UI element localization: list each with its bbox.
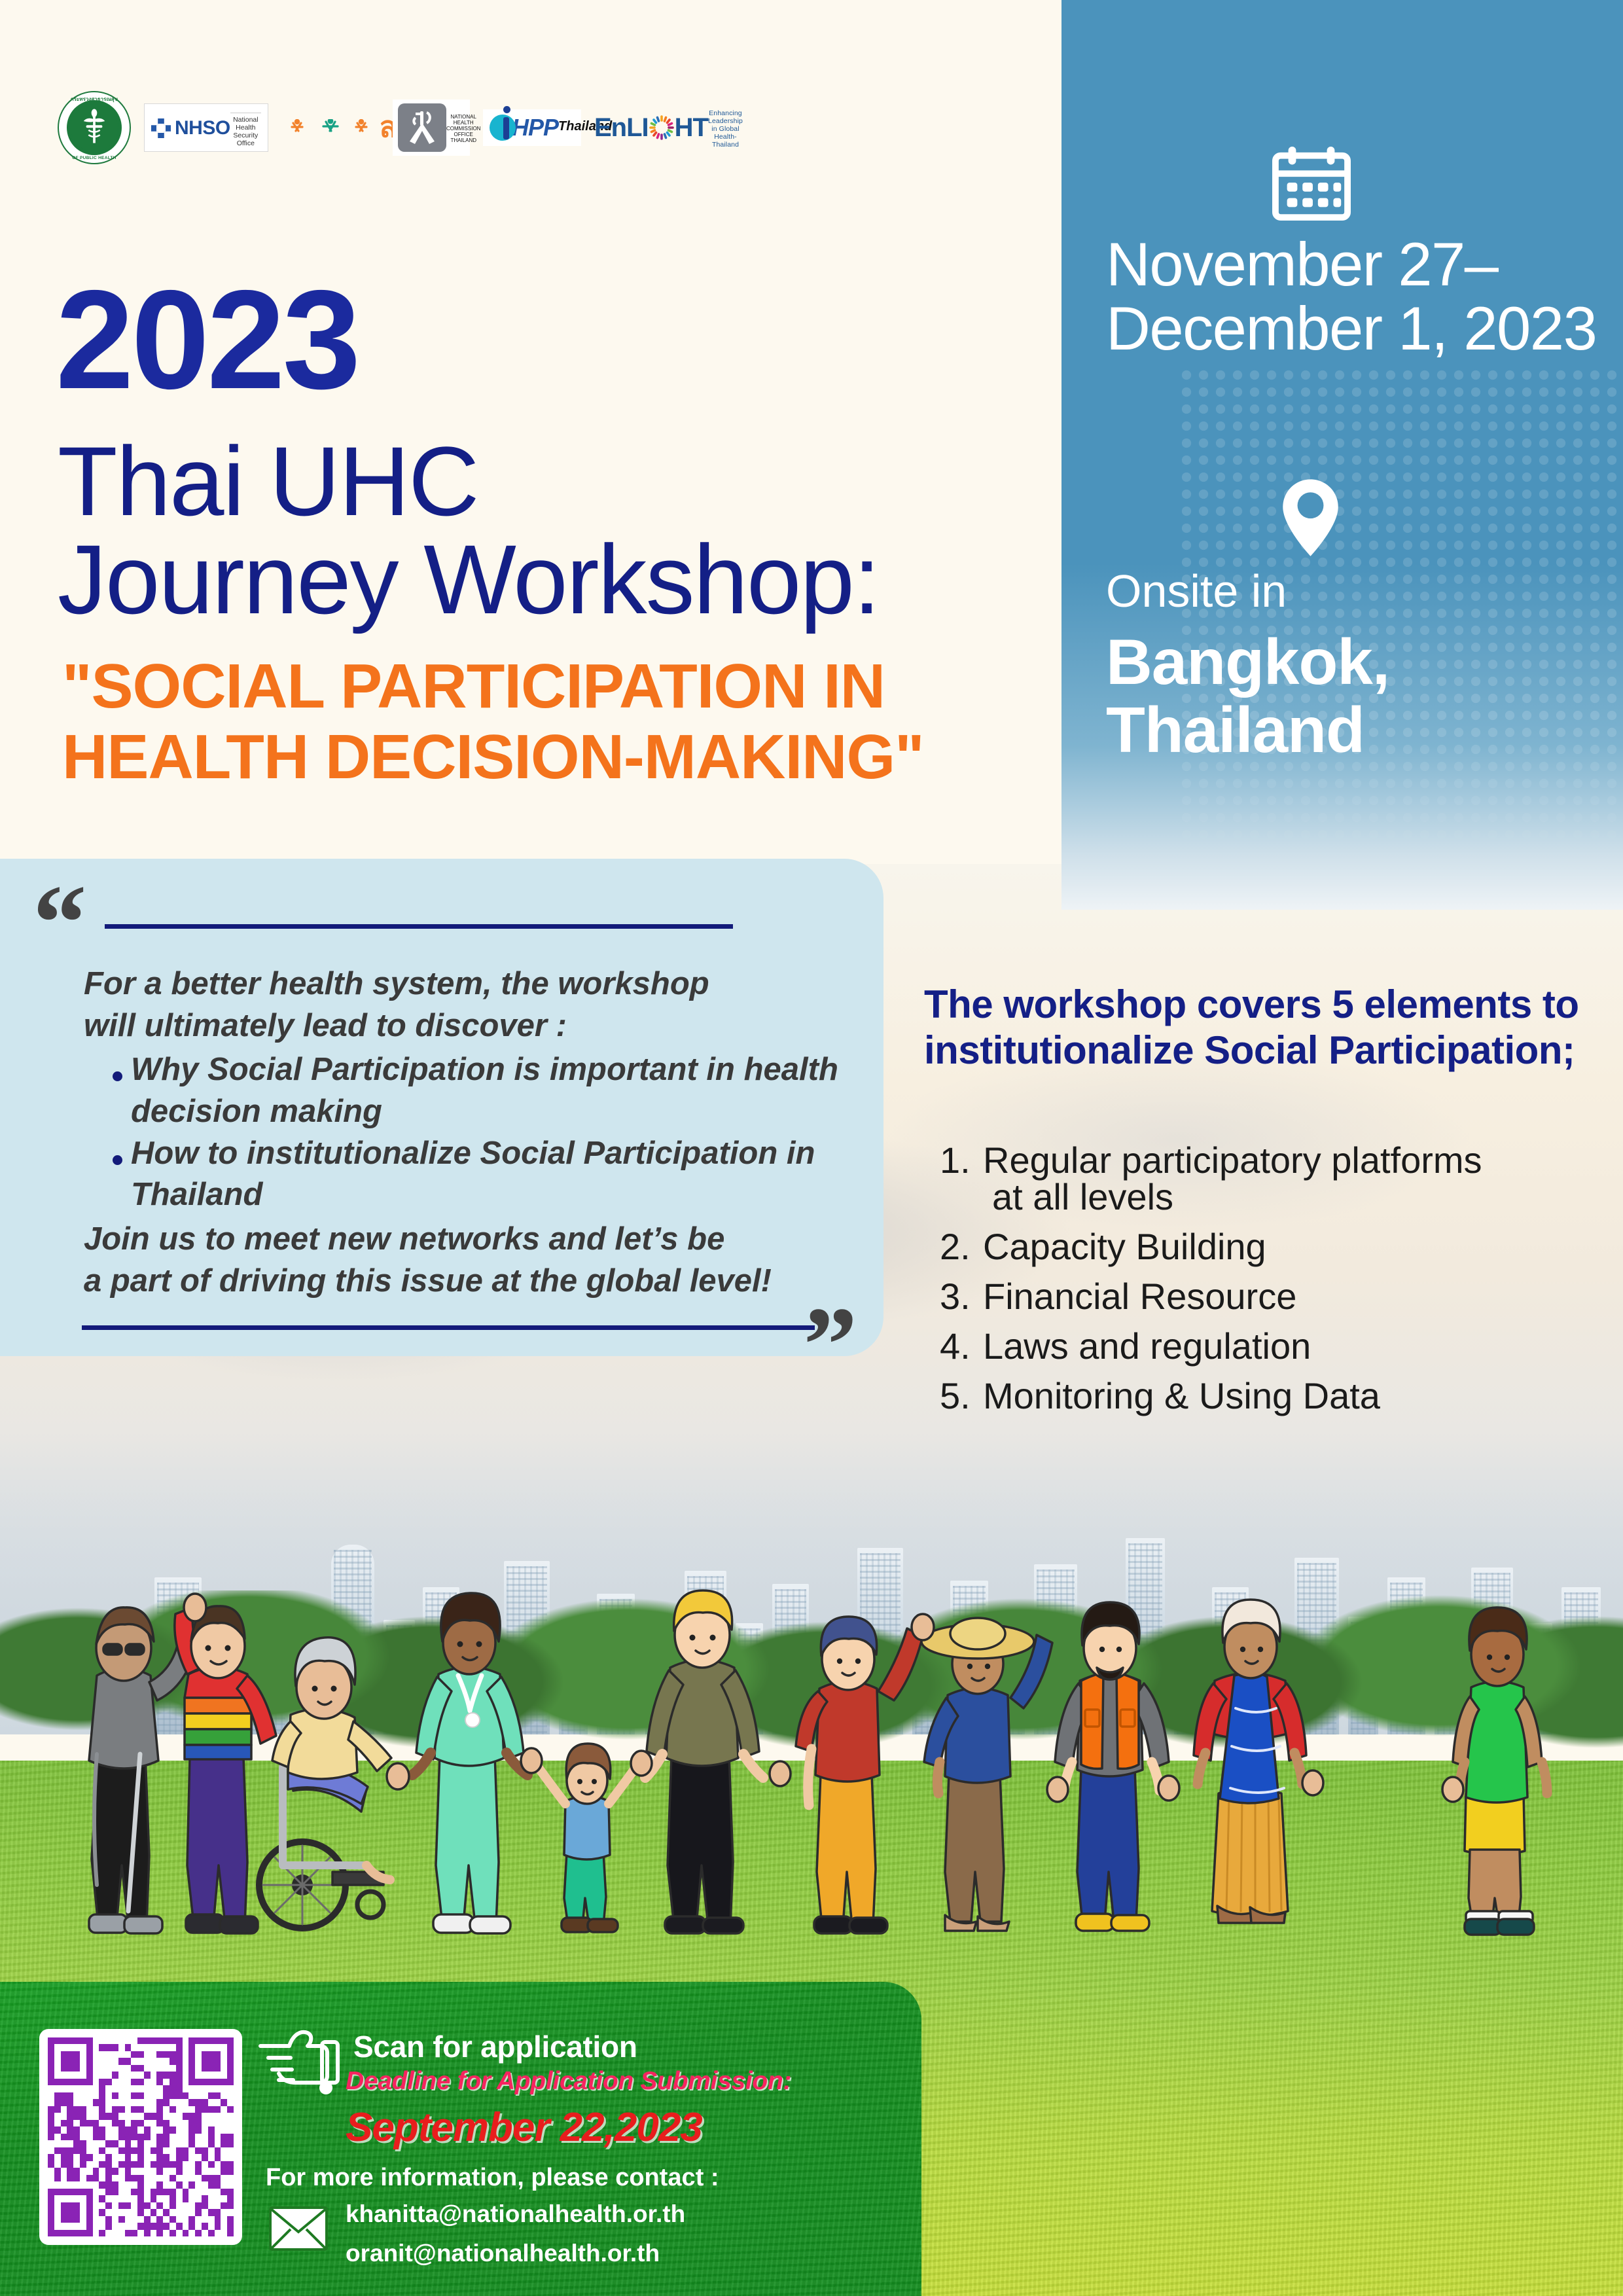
page-title-line3: Journey Workshop: (58, 530, 880, 628)
quote-top-rule (105, 924, 733, 929)
enlight-prefix: EnLI (594, 115, 649, 141)
thaihealth-logo: สสส Thai Health (281, 114, 380, 141)
scan-instruction: Scan for application (353, 2029, 637, 2064)
list-item: Capacity Building (936, 1229, 1623, 1265)
caduceus-icon (77, 107, 111, 148)
ihpp-logo: HPP Thailand (483, 109, 581, 146)
element-3-line1: Financial Resource (983, 1276, 1296, 1317)
deadline-bullet (319, 2081, 332, 2094)
person-safety-vest (1055, 1602, 1169, 1931)
nhso-acronym: NHSO (175, 118, 230, 138)
element-1-line1: Regular participatory platforms (983, 1139, 1482, 1181)
event-mode: Onsite in (1106, 566, 1623, 617)
thaihealth-star-figures (281, 119, 380, 136)
quote-bottom-rule (82, 1325, 815, 1330)
element-4-line1: Laws and regulation (983, 1325, 1311, 1367)
nhco-logo: NATIONAL HEALTH COMMISSION OFFICE THAILA… (393, 99, 470, 156)
partner-logo-row: กระทรวงสาธารณสุข OF PUBLIC HEALTH NHSO N… (58, 88, 725, 167)
medical-cross-icon (151, 118, 171, 138)
nhco-line3: THAILAND (446, 137, 480, 143)
person-olive-sweater (645, 1590, 763, 1933)
nhco-caption: NATIONAL HEALTH COMMISSION OFFICE THAILA… (446, 114, 480, 144)
event-dates: November 27–December 1, 2023 (1106, 232, 1623, 361)
enlight-suffix: HT (675, 115, 708, 141)
enlight-burst-icon (649, 115, 674, 140)
ihpp-hpp-text: HPP (512, 116, 558, 139)
nhso-caption: National Health Security Office (230, 113, 261, 147)
quote-bullet-1: Why Social Participation is important in… (131, 1049, 856, 1132)
list-item: Regular participatory platformsat all le… (936, 1142, 1623, 1215)
quote-open-mark: “ (33, 885, 87, 961)
quote-close-mark: ” (804, 1307, 858, 1383)
qr-code[interactable] (39, 2029, 242, 2245)
elements-list: Regular participatory platformsat all le… (936, 1142, 1623, 1427)
deadline-label: Deadline for Application Submission: (346, 2067, 791, 2096)
person-green-tank (1453, 1607, 1547, 1935)
quote-closing-line1: Join us to meet new networks and let’s b… (84, 1219, 856, 1261)
page-title-line2: Thai UHC (58, 432, 478, 530)
calendar-icon (1270, 145, 1353, 223)
people-holding-hands-illustration (0, 1558, 1623, 1964)
event-city: Bangkok, Thailand (1106, 628, 1623, 764)
list-item: Laws and regulation (936, 1328, 1623, 1365)
quote-callout-box: “ For a better health system, the worksh… (0, 859, 883, 1356)
person-nurse (412, 1593, 527, 1933)
contact-email-2[interactable]: oranit@nationalhealth.or.th (346, 2240, 660, 2267)
elements-heading: The workshop covers 5 elements to instit… (924, 982, 1605, 1073)
poster-root: November 27–December 1, 2023 Onsite in B… (0, 0, 1623, 2296)
enlight-logo: EnLI (594, 107, 725, 149)
moph-logo: กระทรวงสาธารณสุข OF PUBLIC HEALTH (58, 91, 131, 164)
person-child (535, 1744, 639, 1932)
nhso-logo: NHSO National Health Security Office (144, 103, 268, 152)
element-5-line1: Monitoring & Using Data (983, 1375, 1380, 1416)
page-title-year: 2023 (56, 275, 358, 404)
enlight-caption: Enhancing Leadership in Global Health-Th… (708, 109, 743, 149)
quote-bullet-2: How to institutionalize Social Participa… (131, 1133, 856, 1216)
contact-label: For more information, please contact : (266, 2164, 719, 2192)
envelope-icon (268, 2206, 329, 2251)
moph-thai-text: กระทรวงสาธารณสุข (59, 95, 130, 103)
qr-code-modules (48, 2037, 234, 2236)
nhco-line1: NATIONAL HEALTH (446, 114, 480, 126)
quote-body: For a better health system, the workshop… (84, 963, 856, 1302)
list-item: Monitoring & Using Data (936, 1378, 1623, 1414)
person-farmer (921, 1618, 1052, 1931)
list-item: Financial Resource (936, 1278, 1623, 1315)
moph-en-text: OF PUBLIC HEALTH (59, 156, 130, 160)
quote-intro-line2: will ultimately lead to discover : (84, 1005, 856, 1047)
quote-intro-line1: For a better health system, the workshop (84, 963, 856, 1005)
person-in-wheelchair (259, 1638, 391, 1928)
person-elder-apron (1194, 1600, 1306, 1923)
contact-email-1[interactable]: khanitta@nationalhealth.or.th (346, 2200, 685, 2228)
element-1-line2: at all levels (983, 1179, 1623, 1215)
event-info-panel (1061, 0, 1623, 910)
ihpp-i-mark (490, 115, 516, 141)
nhco-line2: COMMISSION OFFICE (446, 126, 480, 137)
element-2-line1: Capacity Building (983, 1226, 1266, 1267)
page-subtitle: "SOCIAL PARTICIPATION IN HEALTH DECISION… (62, 651, 1044, 792)
quote-closing-line2: a part of driving this issue at the glob… (84, 1261, 856, 1302)
person-red-top (796, 1617, 923, 1933)
location-pin-icon (1279, 478, 1342, 558)
nhco-mark-icon (398, 103, 446, 152)
deadline-date: September 22,2023 (346, 2104, 702, 2151)
